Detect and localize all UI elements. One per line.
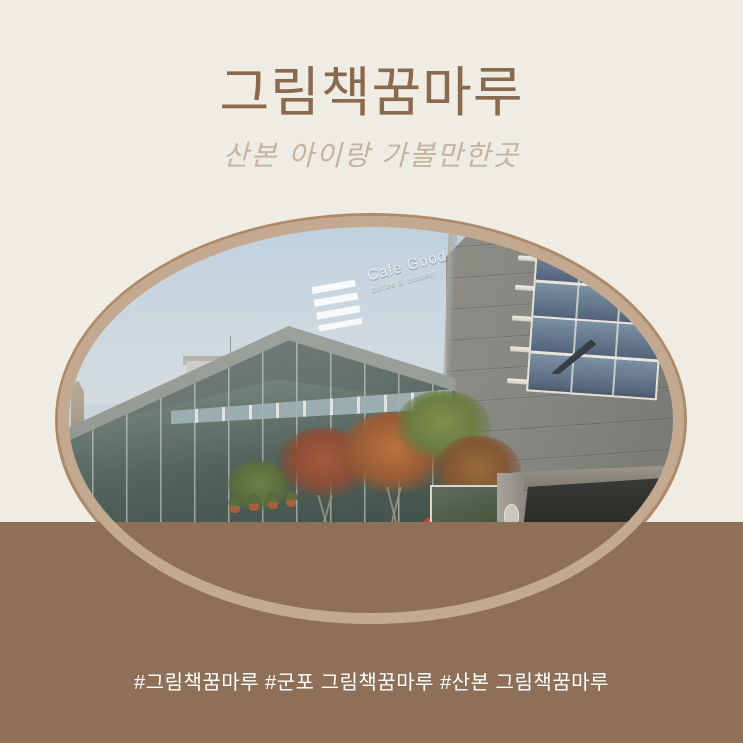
page-title: 그림책꿈마루 — [0, 58, 743, 128]
page-subtitle: 산본 아이랑 가볼만한곳 — [0, 134, 743, 178]
flower-pot — [249, 502, 259, 511]
bottom-color-band — [0, 522, 743, 743]
flower-pot — [286, 498, 296, 507]
flower-pot — [268, 500, 278, 509]
poster-canvas: 그림책꿈마루 산본 아이랑 가볼만한곳 — [0, 0, 743, 743]
stacked-window-band — [526, 244, 667, 400]
building-sign-korean — [311, 280, 362, 332]
flower-pot — [230, 504, 240, 513]
hashtag-line: #그림책꿈마루 #군포 그림책꿈마루 #산본 그림책꿈마루 — [0, 666, 743, 695]
title-block: 그림책꿈마루 산본 아이랑 가볼만한곳 — [0, 58, 743, 178]
